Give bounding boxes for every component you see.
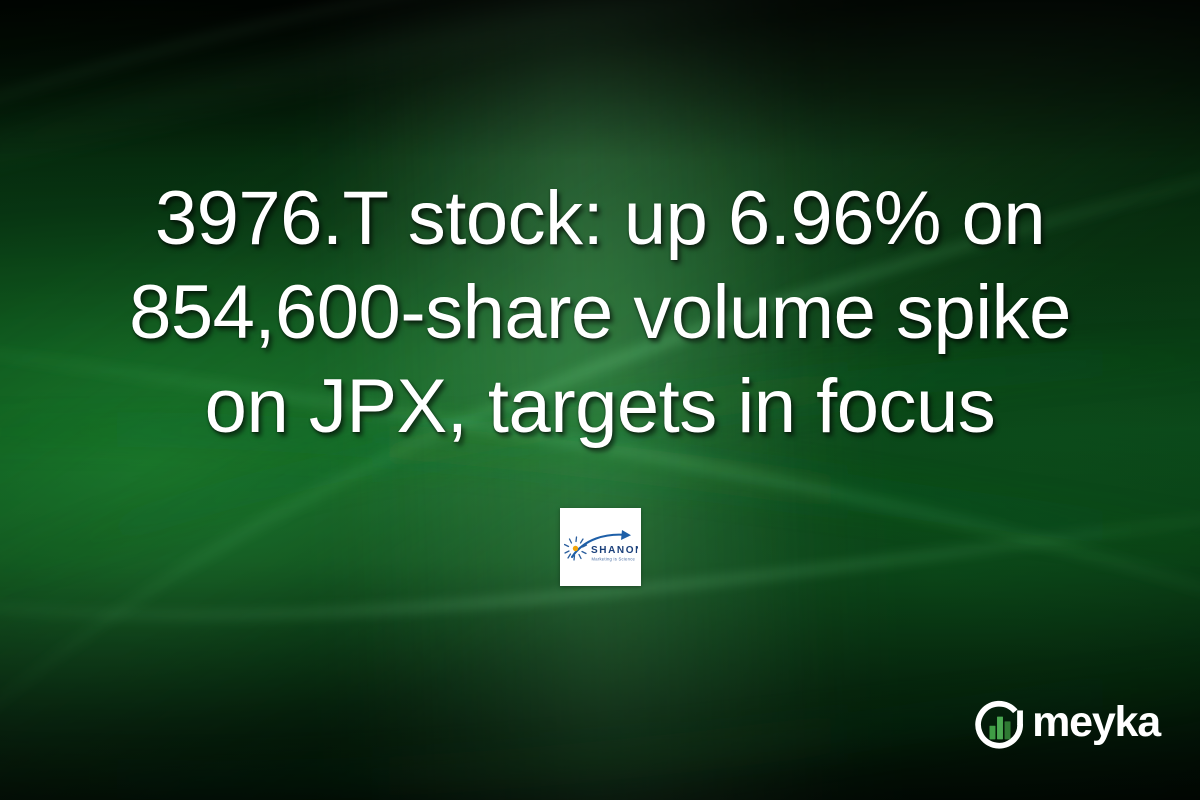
meyka-wordmark: meyka [1032,701,1160,748]
company-logo: SHANON Marketing is Science [560,508,641,586]
meyka-brand-watermark: meyka [972,696,1160,752]
headline: 3976.T stock: up 6.96% on 854,600-share … [0,172,1200,454]
headline-line-3: on JPX, targets in focus [32,360,1168,454]
shanon-tagline: Marketing is Science [591,557,635,562]
shanon-wordmark: SHANON [591,545,638,556]
social-share-card: 3976.T stock: up 6.96% on 854,600-share … [0,0,1200,800]
shanon-atom-core-icon [572,546,577,551]
headline-line-2: 854,600-share volume spike [32,266,1168,360]
headline-line-1: 3976.T stock: up 6.96% on [32,172,1168,266]
shanon-logo-icon: SHANON Marketing is Science [564,526,638,568]
meyka-chart-ring-icon [972,696,1028,752]
